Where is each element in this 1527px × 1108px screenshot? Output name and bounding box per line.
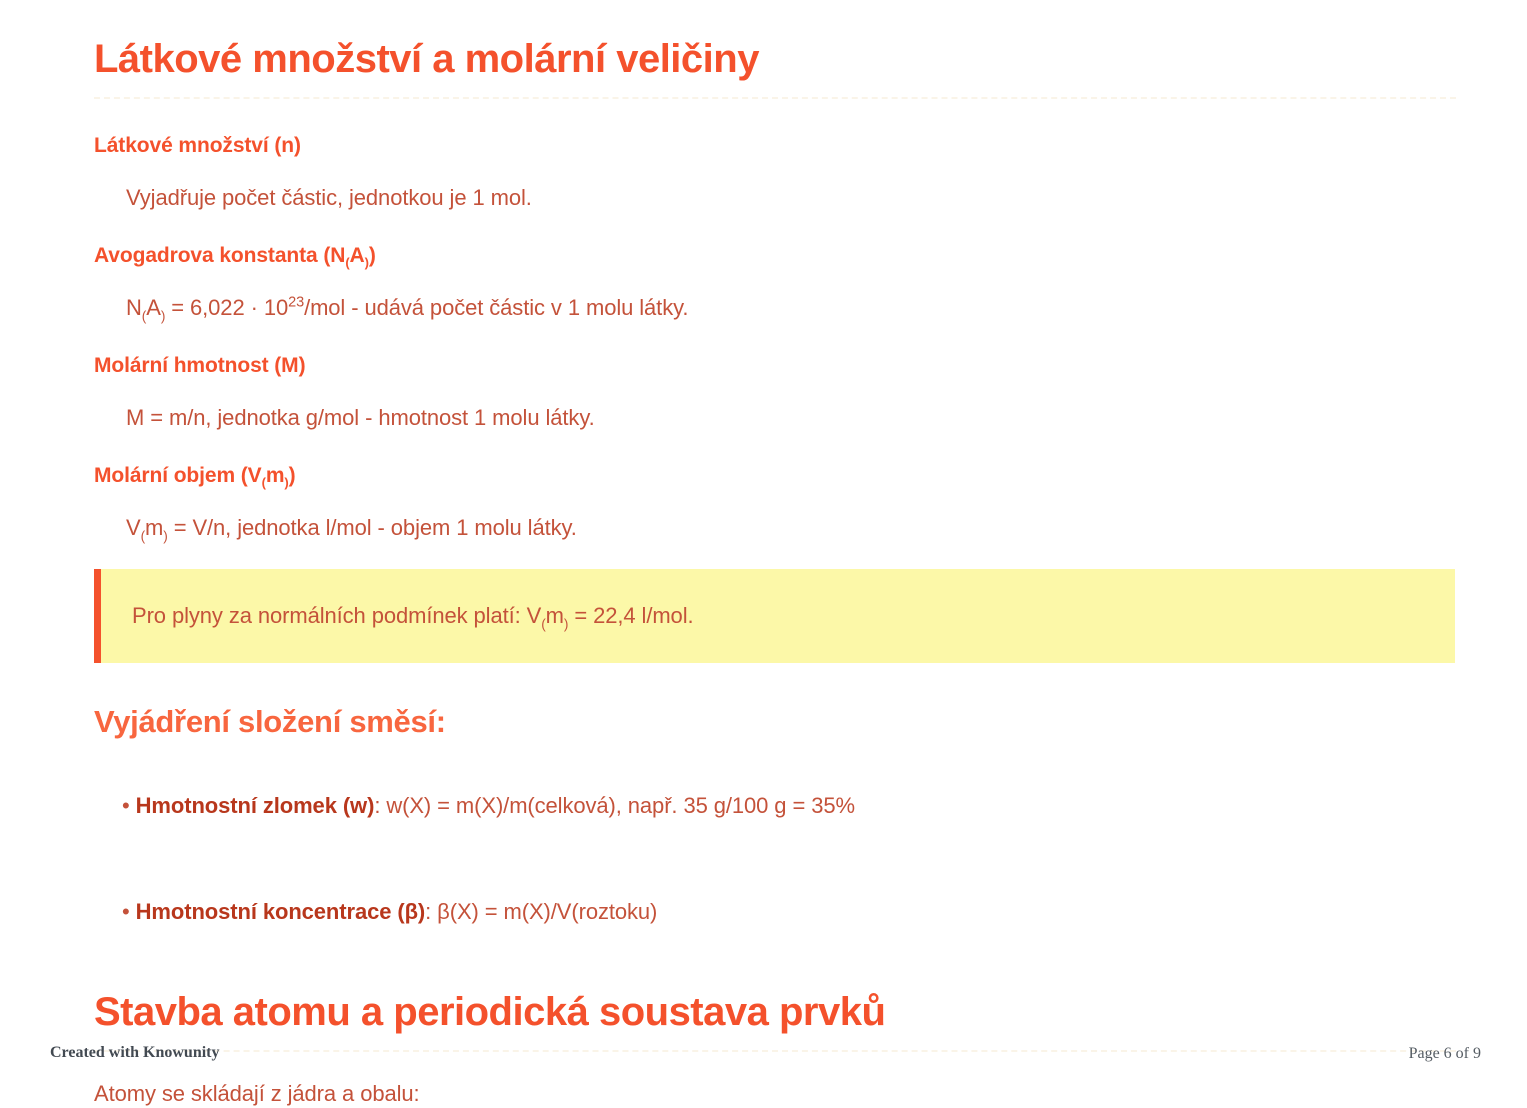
callout-prefix: Pro plyny za normálních podmínek platí: … xyxy=(132,603,541,628)
molarni-objem-heading-mid: m xyxy=(266,464,285,487)
avogadro-body-rest: = 6,022 · 10 xyxy=(165,295,288,320)
list-item-definition: : w(X) = m(X)/m(celková), např. 35 g/100… xyxy=(374,793,855,818)
list-item: • Hmotnostní koncentrace (β): β(X) = m(X… xyxy=(122,897,1456,927)
list-item-term: Hmotnostní zlomek (w) xyxy=(136,793,375,818)
avogadro-body-prefix: N xyxy=(126,295,142,320)
text-latkove-mnozstvi: Vyjadřuje počet částic, jednotkou je 1 m… xyxy=(126,183,1456,213)
avogadro-body-mid: A xyxy=(146,295,161,320)
callout-suffix: = 22,4 l/mol. xyxy=(568,603,693,628)
callout-box: Pro plyny za normálních podmínek platí: … xyxy=(94,569,1455,663)
bullet-marker-icon: • xyxy=(122,793,130,818)
callout-text: Pro plyny za normálních podmínek platí: … xyxy=(132,601,694,631)
heading-molarni-objem: Molární objem (V(m)) xyxy=(94,463,1456,489)
avogadro-heading-prefix: Avogadrova konstanta (N xyxy=(94,244,345,267)
heading-avogadrova-konstanta: Avogadrova konstanta (N(A)) xyxy=(94,243,1456,269)
molarni-objem-heading-suffix: ) xyxy=(289,464,296,487)
heading-vyjadreni-slozeni: Vyjádření složení směsí: xyxy=(94,703,1456,740)
text-stavba-atomu-intro: Atomy se skládají z jádra a obalu: xyxy=(94,1079,1456,1108)
section-title-stavba-atomu: Stavba atomu a periodická soustava prvků xyxy=(94,989,1456,1052)
list-item-term: Hmotnostní koncentrace (β) xyxy=(136,899,426,924)
heading-latkove-mnozstvi: Látkové množství (n) xyxy=(94,133,1456,159)
page-content: Látkové množství a molární veličiny Látk… xyxy=(94,36,1456,1108)
callout-mid: m xyxy=(546,603,564,628)
text-avogadrova-konstanta: N(A) = 6,022 · 1023/mol - udává počet čá… xyxy=(126,293,1456,323)
list-item: • Hmotnostní zlomek (w): w(X) = m(X)/m(c… xyxy=(122,791,1456,821)
list-item-definition: : β(X) = m(X)/V(roztoku) xyxy=(425,899,657,924)
document-page: Látkové množství a molární veličiny Látk… xyxy=(0,0,1527,1080)
molarni-objem-body-mid: m xyxy=(145,515,163,540)
bullet-marker-icon: • xyxy=(122,899,130,924)
avogadro-heading-mid: A xyxy=(350,244,365,267)
molarni-objem-body-prefix: V xyxy=(126,515,141,540)
avogadro-body-exponent: 23 xyxy=(288,295,304,311)
footer-page-number: Page 6 of 9 xyxy=(1409,1045,1481,1063)
page-title: Látkové množství a molární veličiny xyxy=(94,36,1456,99)
molarni-objem-heading-prefix: Molární objem (V xyxy=(94,464,262,487)
molarni-objem-body-rest: = V/n, jednotka l/mol - objem 1 molu lát… xyxy=(168,515,577,540)
avogadro-heading-suffix: ) xyxy=(369,244,376,267)
text-molarni-objem: V(m) = V/n, jednotka l/mol - objem 1 mol… xyxy=(126,513,1456,543)
footer-created-with: Created with Knowunity xyxy=(50,1044,220,1062)
heading-molarni-hmotnost: Molární hmotnost (M) xyxy=(94,353,1456,379)
text-molarni-hmotnost: M = m/n, jednotka g/mol - hmotnost 1 mol… xyxy=(126,403,1456,433)
avogadro-body-tail: /mol - udává počet částic v 1 molu látky… xyxy=(304,295,688,320)
